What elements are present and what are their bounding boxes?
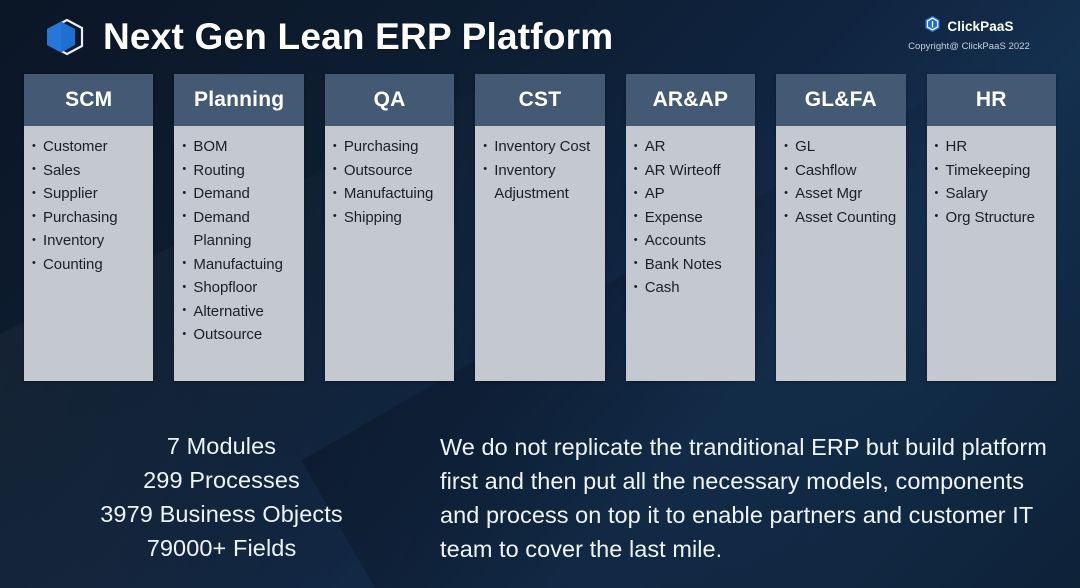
- module-feature-list: ARAR WirteoffAPExpenseAccountsBank Notes…: [634, 135, 749, 300]
- module-feature-item[interactable]: Outsource: [182, 323, 297, 347]
- stats-block: 7 Modules299 Processes3979 Business Obje…: [24, 429, 419, 565]
- module-card-row: SCMCustomerSalesSupplierPurchasingInvent…: [24, 74, 1056, 381]
- module-feature-item[interactable]: Inventory Cost: [483, 135, 598, 159]
- module-feature-item[interactable]: Expense: [634, 206, 749, 230]
- module-card-body: GLCashflowAsset MgrAsset Counting: [776, 126, 905, 381]
- module-card-body: CustomerSalesSupplierPurchasingInventory…: [24, 126, 153, 381]
- module-feature-item[interactable]: AR Wirteoff: [634, 159, 749, 183]
- module-title: QA: [374, 88, 406, 112]
- module-feature-item[interactable]: Outsource: [333, 159, 448, 183]
- module-feature-item[interactable]: Purchasing: [333, 135, 448, 159]
- corporate-branding: ClickPaaS Copyright@ ClickPaaS 2022: [874, 16, 1064, 52]
- module-feature-item[interactable]: Accounts: [634, 229, 749, 253]
- pitch-paragraph: We do not replicate the tranditional ERP…: [440, 430, 1052, 566]
- module-card-body: HRTimekeepingSalaryOrg Structure: [927, 126, 1056, 381]
- module-feature-item[interactable]: AR: [634, 135, 749, 159]
- module-feature-item[interactable]: Demand Planning: [182, 206, 297, 253]
- module-feature-list: GLCashflowAsset MgrAsset Counting: [784, 135, 899, 229]
- module-card-header: HR: [927, 74, 1056, 126]
- module-card-header: AR&AP: [626, 74, 755, 126]
- module-card[interactable]: GL&FAGLCashflowAsset MgrAsset Counting: [776, 74, 905, 381]
- module-title: CST: [519, 88, 562, 112]
- module-feature-item[interactable]: Sales: [32, 159, 147, 183]
- stat-line: 79000+ Fields: [24, 531, 419, 565]
- module-feature-item[interactable]: Manufactuing: [182, 253, 297, 277]
- module-feature-list: Inventory CostInventory Adjustment: [483, 135, 598, 206]
- module-title: SCM: [65, 88, 112, 112]
- module-card-body: PurchasingOutsourceManufactuingShipping: [325, 126, 454, 381]
- module-feature-item[interactable]: Shopfloor: [182, 276, 297, 300]
- module-feature-item[interactable]: BOM: [182, 135, 297, 159]
- corporate-name: ClickPaaS: [947, 19, 1013, 34]
- module-card-header: Planning: [174, 74, 303, 126]
- module-feature-item[interactable]: Cash: [634, 276, 749, 300]
- module-feature-list: BOMRoutingDemandDemand PlanningManufactu…: [182, 135, 297, 347]
- module-card[interactable]: PlanningBOMRoutingDemandDemand PlanningM…: [174, 74, 303, 381]
- hexagon-logo-icon: [40, 16, 90, 64]
- module-card[interactable]: SCMCustomerSalesSupplierPurchasingInvent…: [24, 74, 153, 381]
- module-feature-item[interactable]: Cashflow: [784, 159, 899, 183]
- module-card-body: Inventory CostInventory Adjustment: [475, 126, 604, 381]
- module-feature-item[interactable]: Purchasing: [32, 206, 147, 230]
- module-title: GL&FA: [805, 88, 877, 112]
- module-card-header: SCM: [24, 74, 153, 126]
- module-feature-item[interactable]: Routing: [182, 159, 297, 183]
- copyright-text: Copyright@ ClickPaaS 2022: [874, 41, 1064, 52]
- module-feature-item[interactable]: Inventory: [32, 229, 147, 253]
- module-feature-item[interactable]: AP: [634, 182, 749, 206]
- module-feature-list: PurchasingOutsourceManufactuingShipping: [333, 135, 448, 229]
- page-title: Next Gen Lean ERP Platform: [103, 16, 613, 58]
- module-feature-item[interactable]: Demand: [182, 182, 297, 206]
- module-feature-item[interactable]: Shipping: [333, 206, 448, 230]
- slide-canvas: Next Gen Lean ERP Platform ClickPaaS Cop…: [0, 0, 1080, 588]
- module-feature-item[interactable]: Asset Mgr: [784, 182, 899, 206]
- stat-line: 299 Processes: [24, 463, 419, 497]
- module-card-body: ARAR WirteoffAPExpenseAccountsBank Notes…: [626, 126, 755, 381]
- module-feature-item[interactable]: Customer: [32, 135, 147, 159]
- stat-line: 3979 Business Objects: [24, 497, 419, 531]
- slide-header: Next Gen Lean ERP Platform ClickPaaS Cop…: [0, 0, 1080, 72]
- module-feature-item[interactable]: HR: [935, 135, 1050, 159]
- module-card-header: QA: [325, 74, 454, 126]
- module-card-header: CST: [475, 74, 604, 126]
- module-feature-list: CustomerSalesSupplierPurchasingInventory…: [32, 135, 147, 276]
- module-feature-item[interactable]: Bank Notes: [634, 253, 749, 277]
- module-card[interactable]: HRHRTimekeepingSalaryOrg Structure: [927, 74, 1056, 381]
- module-feature-item[interactable]: Manufactuing: [333, 182, 448, 206]
- module-feature-item[interactable]: Salary: [935, 182, 1050, 206]
- module-feature-item[interactable]: Asset Counting: [784, 206, 899, 230]
- module-feature-list: HRTimekeepingSalaryOrg Structure: [935, 135, 1050, 229]
- slide-footer: 7 Modules299 Processes3979 Business Obje…: [0, 415, 1080, 588]
- module-title: AR&AP: [653, 88, 729, 112]
- module-feature-item[interactable]: Org Structure: [935, 206, 1050, 230]
- stat-line: 7 Modules: [24, 429, 419, 463]
- module-feature-item[interactable]: Counting: [32, 253, 147, 277]
- module-card-header: GL&FA: [776, 74, 905, 126]
- module-card-body: BOMRoutingDemandDemand PlanningManufactu…: [174, 126, 303, 381]
- module-feature-item[interactable]: Inventory Adjustment: [483, 159, 598, 206]
- module-feature-item[interactable]: Supplier: [32, 182, 147, 206]
- module-feature-item[interactable]: GL: [784, 135, 899, 159]
- module-title: HR: [976, 88, 1007, 112]
- module-title: Planning: [194, 88, 284, 112]
- module-card[interactable]: AR&APARAR WirteoffAPExpenseAccountsBank …: [626, 74, 755, 381]
- clickpaas-hexagon-icon: [924, 15, 941, 38]
- module-feature-item[interactable]: Alternative: [182, 300, 297, 324]
- module-card[interactable]: CSTInventory CostInventory Adjustment: [475, 74, 604, 381]
- module-card[interactable]: QAPurchasingOutsourceManufactuingShippin…: [325, 74, 454, 381]
- module-feature-item[interactable]: Timekeeping: [935, 159, 1050, 183]
